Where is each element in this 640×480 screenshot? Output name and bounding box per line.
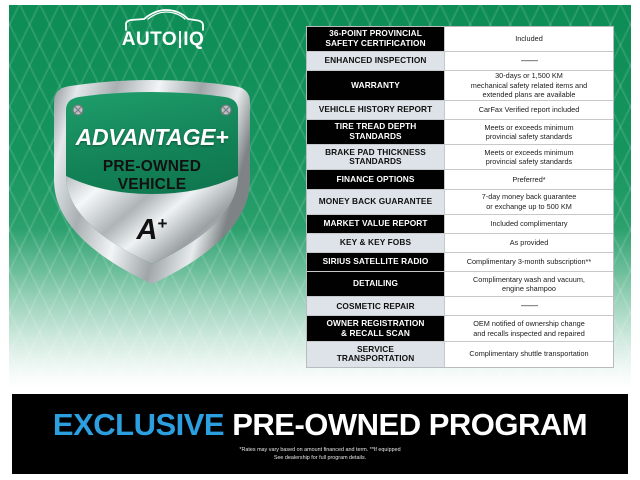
feature-name-line: MARKET VALUE REPORT: [323, 219, 427, 229]
feature-value-line: Meets or exceeds minimum: [484, 123, 573, 133]
feature-name-cell: COSMETIC REPAIR: [307, 297, 444, 315]
feature-name-cell: OWNER REGISTRATION& RECALL SCAN: [307, 316, 444, 340]
feature-name-line: STANDARDS: [335, 132, 417, 142]
logo-word-auto: AUTO: [122, 29, 177, 50]
feature-value-cell: CarFax Verified report included: [444, 101, 613, 119]
feature-value-line: Included: [515, 34, 543, 44]
feature-name-cell: TIRE TREAD DEPTHSTANDARDS: [307, 120, 444, 144]
feature-name-line: ENHANCED INSPECTION: [325, 56, 427, 66]
advantage-plus-shield-badge: ADVANTAGE+ PRE-OWNED VEHICLE A+: [48, 72, 256, 290]
feature-value-line: ——: [521, 55, 537, 67]
feature-value-line: mechanical safety related items and: [471, 81, 587, 91]
feature-value-line: Included complimentary: [490, 219, 567, 229]
feature-value-line: 7-day money back guarantee: [482, 192, 577, 202]
feature-value-line: OEM notified of ownership change: [473, 319, 585, 329]
fineprint-line-2: See dealership for full program details.: [12, 454, 628, 462]
fineprint-line-1: *Rates may vary based on amount financed…: [12, 446, 628, 454]
feature-value-line: ——: [521, 300, 537, 312]
feature-value-cell: As provided: [444, 234, 613, 252]
feature-value-line: provincial safety standards: [484, 157, 573, 167]
table-row: 36-POINT PROVINCIALSAFETY CERTIFICATIONI…: [307, 27, 613, 52]
feature-name-cell: FINANCE OPTIONS: [307, 170, 444, 188]
feature-name-cell: MONEY BACK GUARANTEE: [307, 190, 444, 214]
auto-iq-logo-text: AUTOIQ: [104, 29, 222, 51]
feature-value-line: or exchange up to 500 KM: [482, 202, 577, 212]
advantage-plus-poster: AUTOIQ: [0, 0, 640, 480]
feature-name-cell: KEY & KEY FOBS: [307, 234, 444, 252]
table-row: OWNER REGISTRATION& RECALL SCANOEM notif…: [307, 316, 613, 341]
table-row: TIRE TREAD DEPTHSTANDARDSMeets or exceed…: [307, 120, 613, 145]
feature-name-line: COSMETIC REPAIR: [336, 302, 414, 312]
feature-value-cell: Meets or exceeds minimumprovincial safet…: [444, 120, 613, 144]
feature-name-cell: 36-POINT PROVINCIALSAFETY CERTIFICATION: [307, 27, 444, 51]
feature-value-cell: Meets or exceeds minimumprovincial safet…: [444, 145, 613, 169]
feature-value-line: engine shampoo: [473, 284, 585, 294]
feature-value-cell: Included complimentary: [444, 215, 613, 233]
feature-name-line: KEY & KEY FOBS: [340, 238, 411, 248]
feature-value-cell: OEM notified of ownership changeand reca…: [444, 316, 613, 340]
feature-value-cell: 7-day money back guaranteeor exchange up…: [444, 190, 613, 214]
auto-iq-logo: AUTOIQ: [104, 8, 222, 58]
feature-value-cell: ——: [444, 52, 613, 70]
feature-value-cell: Complimentary 3-month subscription**: [444, 253, 613, 271]
feature-name-line: SIRIUS SATELLITE RADIO: [323, 257, 429, 267]
feature-value-line: Complimentary 3-month subscription**: [467, 257, 592, 267]
feature-name-cell: VEHICLE HISTORY REPORT: [307, 101, 444, 119]
feature-name-cell: DETAILING: [307, 272, 444, 296]
program-features-table: 36-POINT PROVINCIALSAFETY CERTIFICATIONI…: [306, 26, 614, 368]
banner-fineprint: *Rates may vary based on amount financed…: [12, 446, 628, 463]
feature-name-line: TRANSPORTATION: [337, 354, 415, 364]
banner-title-rest: PRE-OWNED PROGRAM: [224, 407, 587, 442]
table-row: WARRANTY30-days or 1,500 KMmechanical sa…: [307, 71, 613, 101]
table-row: SIRIUS SATELLITE RADIOComplimentary 3-mo…: [307, 253, 613, 272]
banner-title-highlight: EXCLUSIVE: [53, 407, 224, 442]
feature-name-cell: SIRIUS SATELLITE RADIO: [307, 253, 444, 271]
feature-name-cell: BRAKE PAD THICKNESSSTANDARDS: [307, 145, 444, 169]
feature-name-line: & RECALL SCAN: [327, 329, 425, 339]
feature-name-line: SAFETY CERTIFICATION: [325, 39, 425, 49]
feature-name-line: VEHICLE HISTORY REPORT: [319, 105, 433, 115]
feature-value-line: extended plans are available: [471, 90, 587, 100]
table-row: FINANCE OPTIONSPreferred*: [307, 170, 613, 189]
feature-name-line: FINANCE OPTIONS: [336, 175, 414, 185]
feature-value-line: CarFax Verified report included: [479, 105, 580, 115]
feature-name-line: DETAILING: [353, 279, 398, 289]
table-row: COSMETIC REPAIR——: [307, 297, 613, 316]
feature-value-cell: Complimentary wash and vacuum,engine sha…: [444, 272, 613, 296]
table-row: VEHICLE HISTORY REPORTCarFax Verified re…: [307, 101, 613, 120]
feature-name-cell: MARKET VALUE REPORT: [307, 215, 444, 233]
feature-value-line: 30-days or 1,500 KM: [471, 71, 587, 81]
table-row: MARKET VALUE REPORTIncluded complimentar…: [307, 215, 613, 234]
table-row: KEY & KEY FOBSAs provided: [307, 234, 613, 253]
table-row: SERVICETRANSPORTATIONComplimentary shutt…: [307, 342, 613, 367]
feature-name-cell: SERVICETRANSPORTATION: [307, 342, 444, 367]
feature-name-line: MONEY BACK GUARANTEE: [319, 197, 432, 207]
feature-value-line: Complimentary shuttle transportation: [469, 349, 588, 359]
feature-name-cell: WARRANTY: [307, 71, 444, 100]
exclusive-program-banner: EXCLUSIVE PRE-OWNED PROGRAM *Rates may v…: [12, 394, 628, 474]
logo-divider-bar: [179, 31, 181, 48]
shield-graphic: [48, 72, 256, 290]
feature-value-cell: Complimentary shuttle transportation: [444, 342, 613, 367]
feature-value-cell: 30-days or 1,500 KMmechanical safety rel…: [444, 71, 613, 100]
table-row: BRAKE PAD THICKNESSSTANDARDSMeets or exc…: [307, 145, 613, 170]
feature-value-cell: ——: [444, 297, 613, 315]
feature-name-line: WARRANTY: [351, 81, 400, 91]
table-row: ENHANCED INSPECTION——: [307, 52, 613, 71]
table-row: DETAILINGComplimentary wash and vacuum,e…: [307, 272, 613, 297]
feature-name-cell: ENHANCED INSPECTION: [307, 52, 444, 70]
table-row: MONEY BACK GUARANTEE7-day money back gua…: [307, 190, 613, 215]
feature-value-line: Meets or exceeds minimum: [484, 148, 573, 158]
feature-value-line: Preferred*: [512, 175, 545, 185]
banner-title: EXCLUSIVE PRE-OWNED PROGRAM: [12, 407, 628, 443]
feature-value-line: provincial safety standards: [484, 132, 573, 142]
feature-value-line: Complimentary wash and vacuum,: [473, 275, 585, 285]
feature-value-cell: Preferred*: [444, 170, 613, 188]
feature-value-cell: Included: [444, 27, 613, 51]
feature-name-line: STANDARDS: [325, 157, 426, 167]
feature-value-line: and recalls inspected and repaired: [473, 329, 585, 339]
logo-word-iq: IQ: [183, 29, 204, 50]
feature-value-line: As provided: [510, 238, 549, 248]
